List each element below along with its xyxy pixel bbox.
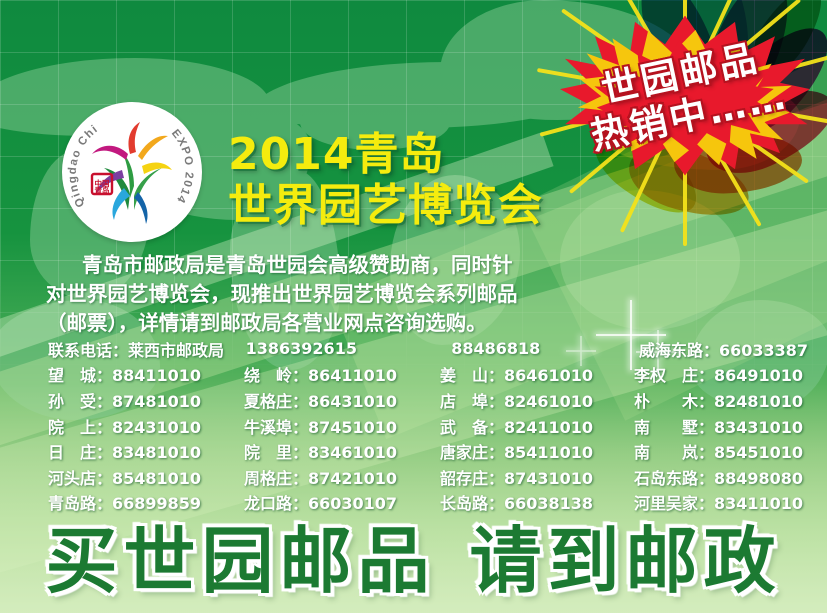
contact-cell: 南 墅：83431010 [634,414,808,438]
svg-text:EXPO 2014: EXPO 2014 [169,127,195,205]
contact-cell: 河头店：85481010 [48,465,244,489]
poster-canvas: 世园邮品 热销中…… Qingdao China EXPO 2014 [0,0,827,613]
contact-cell: 绕 岭：86411010 [244,362,440,386]
contact-header-phone-2: 88486818 [435,339,639,358]
contact-header-label: 联系电话：莱西市邮政局 [48,337,238,361]
contact-header-row: 联系电话：莱西市邮政局 1386392615 88486818 威海东路：660… [48,336,808,362]
contact-cell: 武 备：82411010 [440,414,634,438]
contact-header-phone-1: 1386392615 [238,339,436,358]
contact-cell: 石岛东路：88498080 [634,465,808,489]
contact-cell: 李权 庄：86491010 [634,362,808,386]
contact-row: 孙 受：87481010夏格庄：86431010店 埠：82461010朴 木：… [48,387,808,413]
body-line-2: 对世界园艺博览会，现推出世界园艺博览会系列邮品 [46,280,620,309]
bottom-slogan: 买世园邮品请到邮政 [0,502,827,607]
contact-cell: 孙 受：87481010 [48,388,244,412]
body-line-1: 青岛市邮政局是青岛世园会高级赞助商，同时针 [46,251,620,280]
headline-line-1: 2014青岛 [228,133,543,177]
contact-cell: 望 城：88411010 [48,362,244,386]
contact-cell: 牛溪埠：87451010 [244,414,440,438]
contact-cell: 日 庄：83481010 [48,439,244,463]
contact-row: 河头店：85481010周格庄：87421010韶存庄：87431010石岛东路… [48,464,808,490]
headline-line-2: 世界园艺博览会 [228,184,543,228]
contact-cell: 韶存庄：87431010 [440,465,634,489]
contact-cell: 唐家庄：85411010 [440,439,634,463]
contact-cell: 姜 山：86461010 [440,362,634,386]
contact-cell: 店 埠：82461010 [440,388,634,412]
svg-text:青岛: 青岛 [95,185,110,195]
contact-row: 院 上：82431010牛溪埠：87451010武 备：82411010南 墅：… [48,413,808,439]
contact-cell: 院 里：83461010 [244,439,440,463]
contact-list: 联系电话：莱西市邮政局 1386392615 88486818 威海东路：660… [48,336,808,515]
contact-header-branch: 威海东路：66033387 [639,337,808,361]
contact-cell: 夏格庄：86431010 [244,388,440,412]
body-line-3: （邮票），详情请到邮政局各营业网点咨询选购。 [46,309,620,338]
expo-logo: Qingdao China EXPO 2014 中国 青岛 [62,102,202,242]
contact-row: 望 城：88411010绕 岭：86411010姜 山：86461010李权 庄… [48,362,808,388]
contact-cell: 南 岚：85451010 [634,439,808,463]
promo-starburst-badge: 世园邮品 热销中…… [545,8,825,183]
contact-row: 日 庄：83481010院 里：83461010唐家庄：85411010南 岚：… [48,438,808,464]
body-paragraph: 青岛市邮政局是青岛世园会高级赞助商，同时针 对世界园艺博览会，现推出世界园艺博览… [46,251,620,338]
contact-cell: 朴 木：82481010 [634,388,808,412]
slogan-part-1: 买世园邮品 [45,518,435,603]
contact-cell: 周格庄：87421010 [244,465,440,489]
contact-cell: 院 上：82431010 [48,414,244,438]
slogan-part-2: 请到邮政 [470,518,782,603]
event-headline: 2014青岛 世界园艺博览会 [228,133,543,228]
